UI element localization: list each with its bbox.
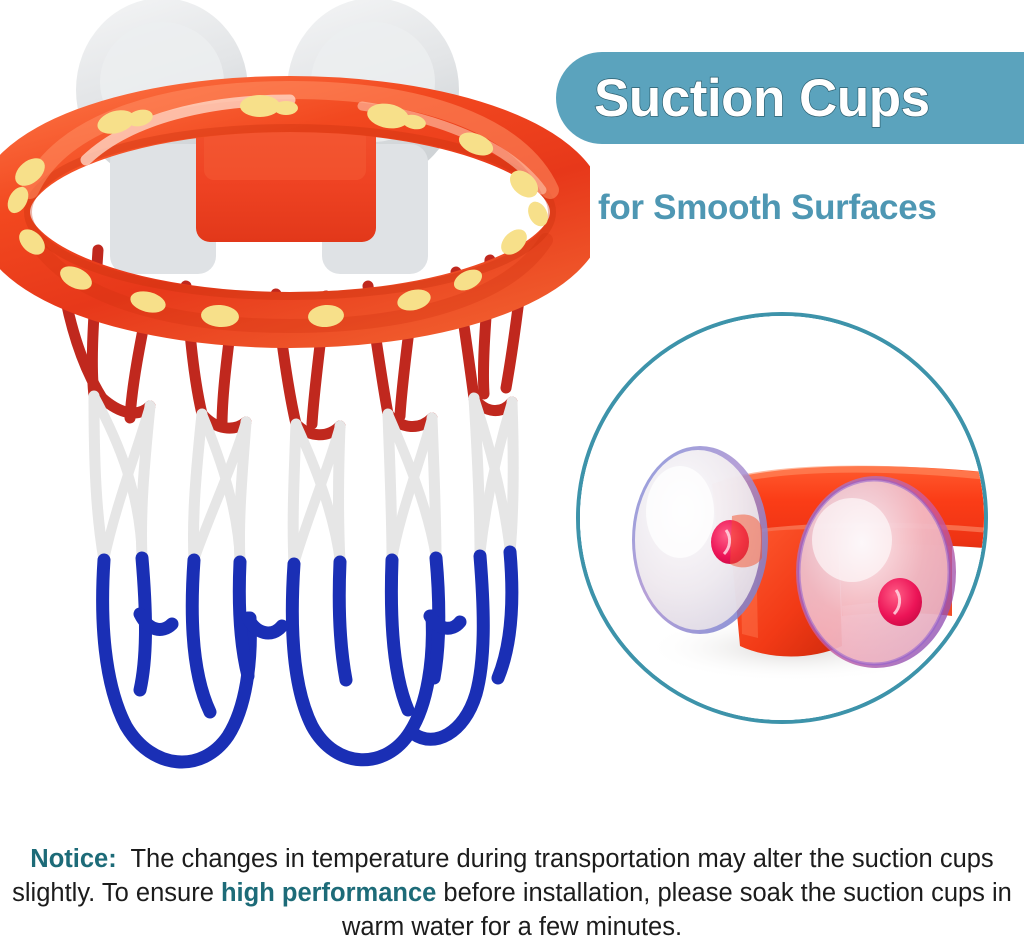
- notice-label: Notice:: [30, 845, 116, 873]
- hoop-mount-plate: [196, 122, 376, 242]
- basketball-hoop-product-image: [0, 0, 590, 824]
- suction-cup-detail-inset: [576, 312, 988, 724]
- notice-text-block: Notice: The changes in temperature durin…: [0, 842, 1024, 944]
- notice-highlight: high performance: [221, 879, 436, 907]
- notice-spacer: [117, 845, 131, 873]
- suction-cup-left: [632, 446, 768, 634]
- notice-body-part-2: before installation, please soak the suc…: [342, 879, 1012, 941]
- banner-subtitle: for Smooth Surfaces: [598, 188, 937, 228]
- suction-cups-banner: Suction Cups: [556, 52, 1024, 144]
- suction-cup-right: [796, 476, 956, 668]
- product-marketing-image: Suction Cups for Smooth Surfaces: [0, 0, 1024, 951]
- inset-photo: [580, 316, 984, 720]
- banner-title: Suction Cups: [594, 72, 930, 125]
